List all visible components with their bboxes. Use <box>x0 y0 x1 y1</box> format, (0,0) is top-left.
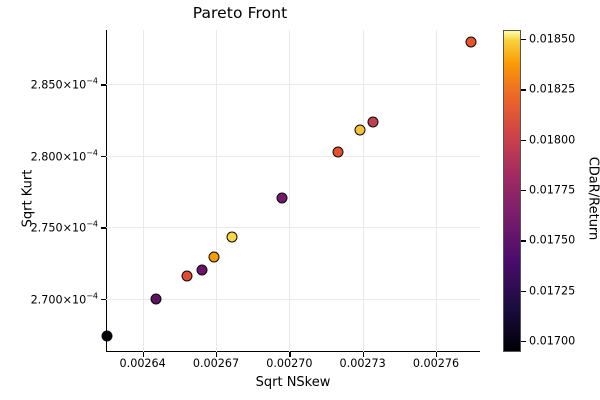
colorbar-title: CDaR/Return <box>586 119 600 279</box>
y-gridline <box>106 156 480 157</box>
chart-title: Pareto Front <box>0 4 480 22</box>
colorbar-tick <box>521 291 526 292</box>
scatter-point <box>196 265 207 276</box>
y-tick <box>101 227 106 228</box>
colorbar-tick-label: 0.01750 <box>529 234 575 247</box>
x-tick-label: 0.00267 <box>193 357 239 370</box>
x-axis-spine <box>106 351 480 352</box>
y-gridline <box>106 299 480 300</box>
y-tick-label: 2.750×10−4 <box>31 220 98 235</box>
x-gridline <box>363 30 364 352</box>
y-tick <box>101 156 106 157</box>
y-gridline <box>106 227 480 228</box>
scatter-point <box>354 125 365 136</box>
colorbar-tick-label: 0.01725 <box>529 284 575 297</box>
scatter-point <box>150 293 161 304</box>
colorbar-tick <box>521 190 526 191</box>
colorbar-gradient <box>503 30 521 352</box>
x-tick-label: 0.00270 <box>266 357 312 370</box>
scatter-point <box>466 37 477 48</box>
colorbar-tick <box>521 341 526 342</box>
x-gridline <box>436 30 437 352</box>
colorbar-tick <box>521 240 526 241</box>
scatter-point <box>277 193 288 204</box>
x-gridline <box>289 30 290 352</box>
y-axis-title: Sqrt Kurt <box>21 119 36 279</box>
x-tick-label: 0.00273 <box>340 357 386 370</box>
scatter-point <box>102 330 113 341</box>
colorbar-tick-label: 0.01700 <box>529 334 575 347</box>
scatter-point <box>367 116 378 127</box>
colorbar-tick <box>521 89 526 90</box>
y-tick-label: 2.700×10−4 <box>31 292 98 307</box>
y-tick <box>101 84 106 85</box>
colorbar-tick-label: 0.01800 <box>529 133 575 146</box>
y-tick <box>101 299 106 300</box>
y-tick-label: 2.850×10−4 <box>31 77 98 92</box>
colorbar-tick-label: 0.01825 <box>529 83 575 96</box>
x-gridline <box>216 30 217 352</box>
colorbar-tick-label: 0.01850 <box>529 33 575 46</box>
colorbar-tick-label: 0.01775 <box>529 183 575 196</box>
plot-area <box>106 30 480 352</box>
y-axis-spine <box>106 30 107 352</box>
x-tick-label: 0.00264 <box>120 357 166 370</box>
scatter-point <box>182 271 193 282</box>
scatter-point <box>226 231 237 242</box>
colorbar-tick <box>521 39 526 40</box>
x-gridline <box>143 30 144 352</box>
x-axis-title: Sqrt NSkew <box>106 375 480 390</box>
scatter-point <box>208 252 219 263</box>
chart-figure: Pareto Front 0.002640.002670.002700.0027… <box>0 0 600 400</box>
x-tick-label: 0.00276 <box>413 357 459 370</box>
colorbar-tick <box>521 140 526 141</box>
scatter-point <box>332 147 343 158</box>
y-gridline <box>106 84 480 85</box>
y-tick-label: 2.800×10−4 <box>31 149 98 164</box>
